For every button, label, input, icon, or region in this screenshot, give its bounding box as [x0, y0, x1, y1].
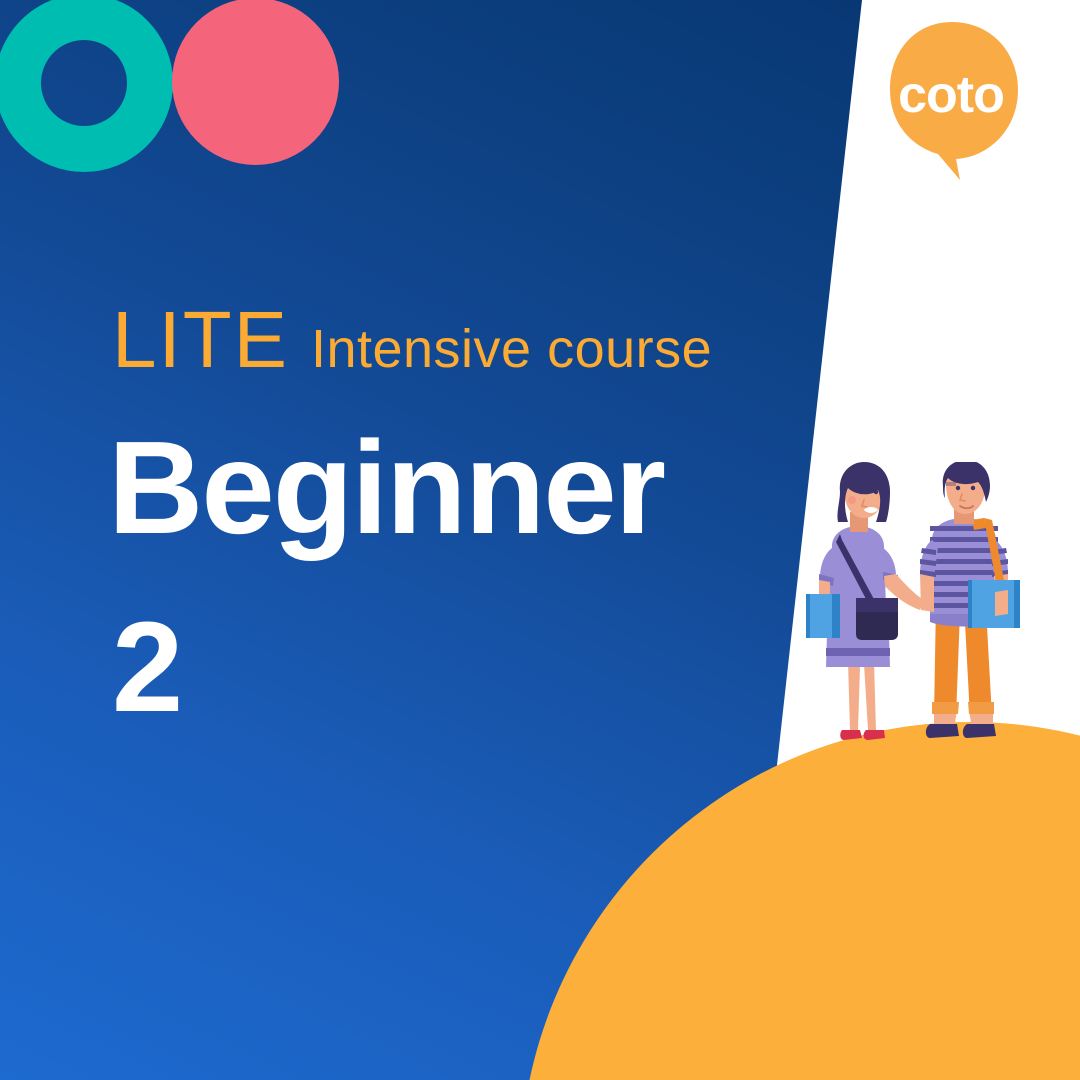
kicker-lite-label: LITE — [112, 300, 289, 380]
man-figure — [920, 462, 1020, 738]
course-level-number: 2 — [112, 604, 183, 732]
coto-logo-text: coto — [886, 20, 1018, 170]
coto-logo[interactable]: coto — [886, 20, 1026, 180]
course-level-name: Beginner — [108, 422, 664, 554]
two-students-illustration — [806, 462, 1042, 758]
kicker-intensive-course-label: Intensive course — [311, 322, 712, 376]
students-figure-icon — [806, 462, 1042, 758]
pink-circle-icon — [172, 0, 339, 165]
course-banner: coto LITE Intensive course Beginner 2 — [0, 0, 1080, 1080]
course-kicker: LITE Intensive course — [112, 300, 712, 380]
